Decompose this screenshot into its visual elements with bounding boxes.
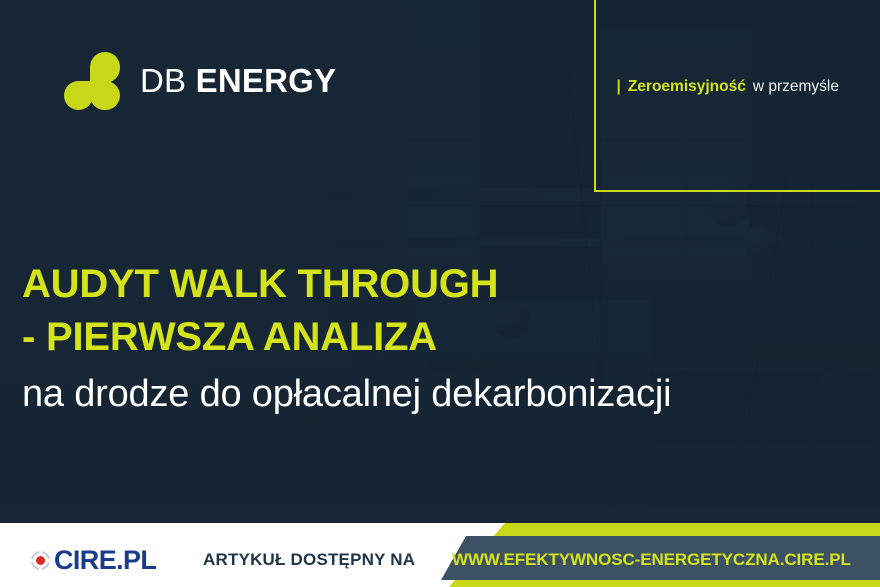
cire-pl-logo[interactable]: CIRE.PL (31, 545, 156, 576)
tagline-strong: Zeroemisyjność (628, 78, 746, 96)
promo-banner: DB ENERGY | Zeroemisyjność w przemyśle A… (0, 0, 880, 587)
footer-bar: CIRE.PL ARTYKUŁ DOSTĘPNY NA WWW.EFEKTYWN… (0, 523, 880, 587)
headline-block: AUDYT WALK THROUGH - PIERWSZA ANALIZA na… (22, 258, 862, 422)
footer-url-link[interactable]: WWW.EFEKTYWNOSC-ENERGETYCZNA.CIRE.PL (452, 550, 851, 570)
brand-name-bold: ENERGY (196, 62, 337, 99)
tagline-rest: w przemyśle (753, 78, 839, 96)
cire-pl-wordmark: CIRE.PL (54, 545, 156, 576)
db-energy-trefoil-icon (64, 52, 122, 110)
db-energy-logo: DB ENERGY (64, 52, 336, 110)
tagline-separator: | (616, 78, 620, 96)
headline-line-1: AUDYT WALK THROUGH (22, 258, 862, 311)
headline-line-2: - PIERWSZA ANALIZA (22, 311, 862, 364)
brand-wordmark: DB ENERGY (140, 62, 336, 100)
tagline: | Zeroemisyjność w przemyśle (616, 78, 839, 96)
headline-line-3: na drodze do opłacalnej dekarbonizacji (22, 368, 862, 421)
cire-target-icon (31, 551, 50, 570)
brand-name-light: DB (140, 62, 186, 99)
article-availability-label: ARTYKUŁ DOSTĘPNY NA (203, 550, 415, 570)
